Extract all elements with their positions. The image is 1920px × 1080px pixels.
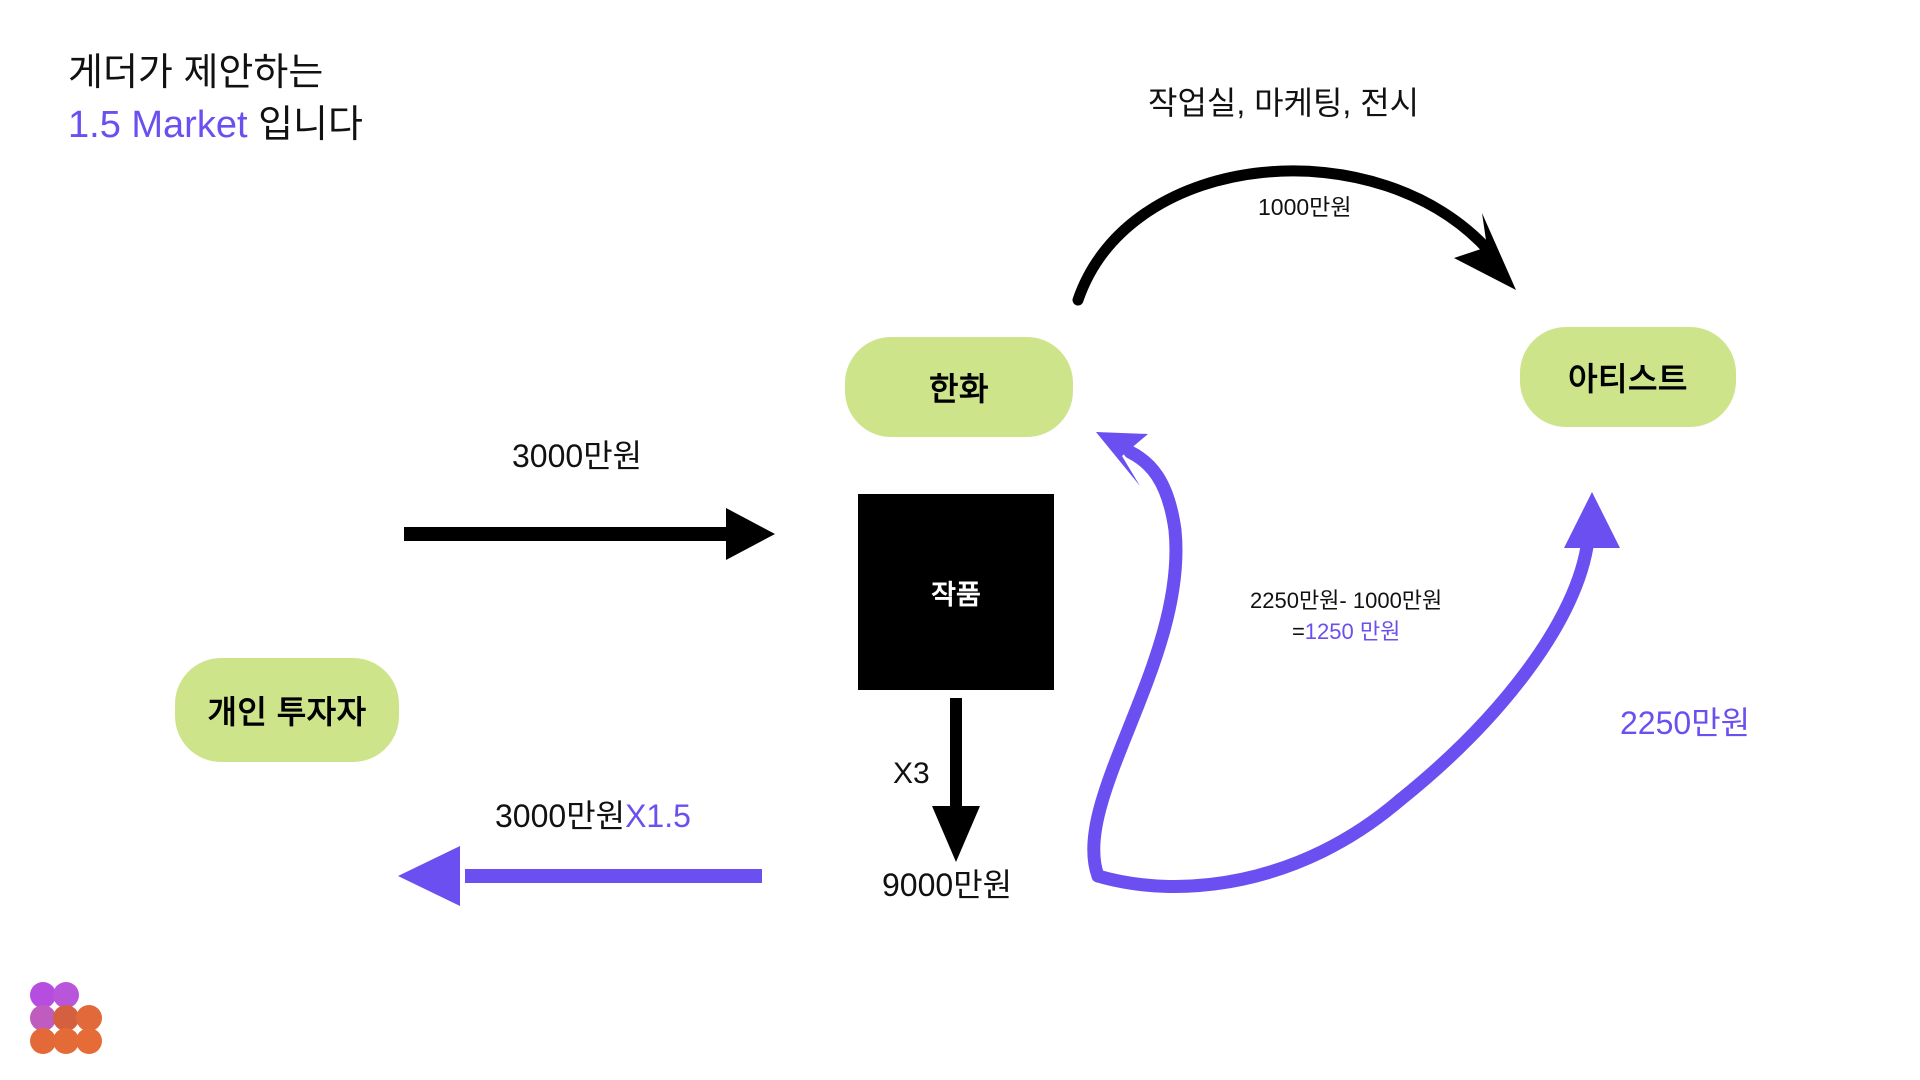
title-line-2-suffix: 입니다 <box>248 104 363 146</box>
edge-to-hanwha-purple-curve <box>1094 432 1176 876</box>
title-accent-market: 1.5 Market <box>68 104 248 146</box>
slide-canvas: 게더가 제안하는 1.5 Market 입니다 한화 아티스트 개인 투자자 작… <box>0 0 1920 1080</box>
payout-multiplier: X1.5 <box>625 798 691 834</box>
node-artist[interactable]: 아티스트 <box>1520 327 1736 427</box>
node-investor[interactable]: 개인 투자자 <box>175 658 399 762</box>
logo-dot <box>76 1028 102 1054</box>
label-payout-to-investor: 3000만원X1.5 <box>495 791 691 837</box>
label-services: 작업실, 마케팅, 전시 <box>1148 78 1419 124</box>
label-multiplier-x3: X3 <box>893 757 930 791</box>
gather-logo <box>30 982 106 1054</box>
edge-purple-bottom-run <box>1098 800 1400 886</box>
edge-payout-to-investor <box>398 846 762 906</box>
edge-artwork-value-down <box>932 698 980 862</box>
title-line-2: 1.5 Market 입니다 <box>68 100 363 152</box>
slide-title: 게더가 제안하는 1.5 Market 입니다 <box>68 48 363 151</box>
label-support-amount: 1000만원 <box>1258 188 1352 222</box>
calc-equals: = <box>1292 619 1305 644</box>
label-artwork-value: 9000만원 <box>882 860 1012 906</box>
label-share-to-artist: 2250만원 <box>1620 698 1750 744</box>
node-hanwha[interactable]: 한화 <box>845 337 1073 437</box>
node-artwork[interactable]: 작품 <box>858 494 1054 690</box>
label-artist-net-calculation: 2250만원- 1000만원 =1250 만원 <box>1250 585 1442 647</box>
calc-line-2: =1250 만원 <box>1250 616 1442 647</box>
calc-line-1: 2250만원- 1000만원 <box>1250 585 1442 616</box>
label-investment-in: 3000만원 <box>512 431 642 477</box>
title-line-1: 게더가 제안하는 <box>68 48 363 100</box>
payout-base: 3000만원 <box>495 798 625 834</box>
calc-result: 1250 만원 <box>1305 619 1401 644</box>
edge-investor-to-hanwha <box>404 508 775 560</box>
